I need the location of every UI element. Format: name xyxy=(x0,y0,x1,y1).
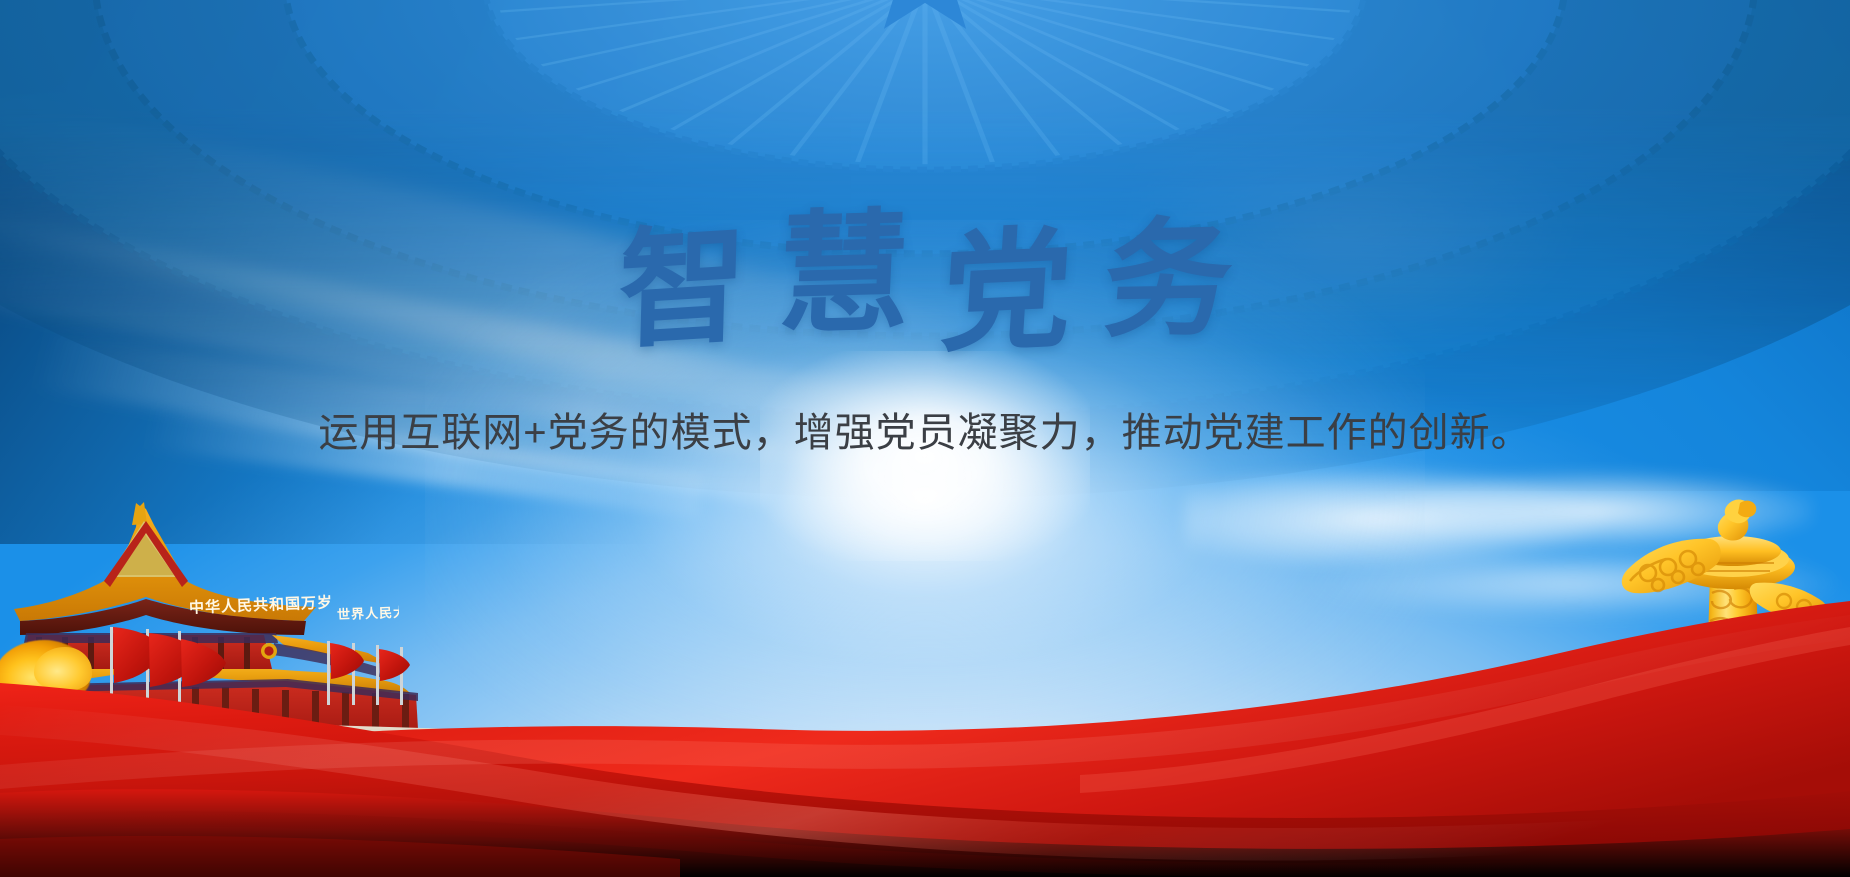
tiananmen-banner-right: 世界人民大团结万岁 xyxy=(337,602,400,623)
smart-party-affairs-banner: 智 慧 党 务 运用互联网+党务的模式，增强党员凝聚力，推动党建工作的创新。 xyxy=(0,0,1850,877)
sky-tint-right xyxy=(1036,0,1850,491)
sky-tint-left xyxy=(0,0,851,544)
